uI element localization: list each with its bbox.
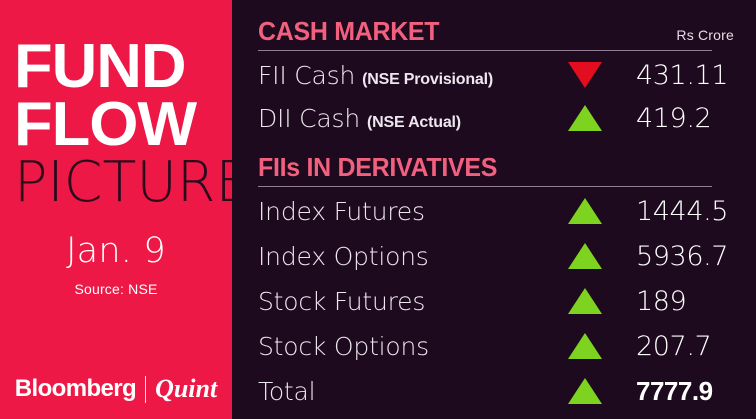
row-value: 189 (636, 286, 686, 317)
date-label: Jan. 9 (0, 232, 232, 270)
section-divider-cash-market (258, 50, 712, 51)
table-row: Stock Futures 189 (258, 284, 742, 318)
table-row: FII Cash (NSE Provisional) 431.11 (258, 58, 742, 92)
row-label-stock-futures: Stock Futures (258, 287, 425, 316)
row-value: 1444.5 (636, 196, 728, 227)
row-label-dii-cash: DII Cash (NSE Actual) (258, 104, 461, 133)
data-panel: CASH MARKET Rs Crore FII Cash (NSE Provi… (232, 0, 756, 419)
triangle-up-icon (568, 288, 602, 314)
triangle-up-icon (568, 333, 602, 359)
row-label-stock-options: Stock Options (258, 332, 429, 361)
triangle-up-icon (568, 198, 602, 224)
row-name: Stock Futures (258, 287, 425, 316)
row-name: Index Futures (258, 197, 425, 226)
section-title-cash-market: CASH MARKET (258, 16, 439, 47)
row-value: 419.2 (636, 103, 711, 134)
source-label: Source: NSE (0, 281, 232, 297)
section-header-cash-market: CASH MARKET Rs Crore (258, 16, 738, 47)
section-divider-derivatives (258, 186, 712, 187)
triangle-up-icon (568, 378, 602, 404)
row-note: (NSE Actual) (367, 114, 461, 132)
logo-bloomberg-text: Bloomberg (15, 375, 136, 403)
table-row: Index Options 5936.7 (258, 239, 742, 273)
row-note: (NSE Provisional) (362, 71, 493, 89)
triangle-down-icon (568, 62, 602, 88)
logo-quint-text: Quint (155, 374, 217, 404)
table-row: DII Cash (NSE Actual) 419.2 (258, 101, 742, 135)
row-label-fii-cash: FII Cash (NSE Provisional) (258, 61, 493, 90)
table-row: Index Futures 1444.5 (258, 194, 742, 228)
row-name: DII Cash (258, 104, 360, 133)
row-name: Index Options (258, 242, 429, 271)
section-header-derivatives: FIIs IN DERIVATIVES (258, 152, 738, 183)
row-name: Total (258, 377, 315, 406)
headline-line-fund: FUND (14, 38, 230, 96)
unit-label: Rs Crore (676, 27, 738, 43)
fund-flow-infographic: FUND FLOW PICTURE Jan. 9 Source: NSE Blo… (0, 0, 756, 419)
row-name: FII Cash (258, 61, 355, 90)
row-name: Stock Options (258, 332, 429, 361)
row-value: 7777.9 (636, 376, 713, 407)
headline-line-flow: FLOW (14, 96, 230, 154)
row-label-total: Total (258, 377, 315, 406)
row-label-index-options: Index Options (258, 242, 429, 271)
row-value: 207.7 (636, 331, 711, 362)
table-row: Stock Options 207.7 (258, 329, 742, 363)
triangle-up-icon (568, 243, 602, 269)
headline-block: FUND FLOW PICTURE (14, 38, 226, 212)
logo-separator (145, 376, 146, 403)
bloomberg-quint-logo: Bloomberg Quint (0, 374, 232, 404)
table-row-total: Total 7777.9 (258, 374, 742, 408)
row-value: 5936.7 (636, 241, 728, 272)
row-label-index-futures: Index Futures (258, 197, 425, 226)
brand-panel: FUND FLOW PICTURE Jan. 9 Source: NSE Blo… (0, 0, 232, 419)
headline-line-picture: PICTURE (14, 154, 224, 212)
section-title-derivatives: FIIs IN DERIVATIVES (258, 152, 497, 183)
row-value: 431.11 (636, 60, 728, 91)
triangle-up-icon (568, 105, 602, 131)
